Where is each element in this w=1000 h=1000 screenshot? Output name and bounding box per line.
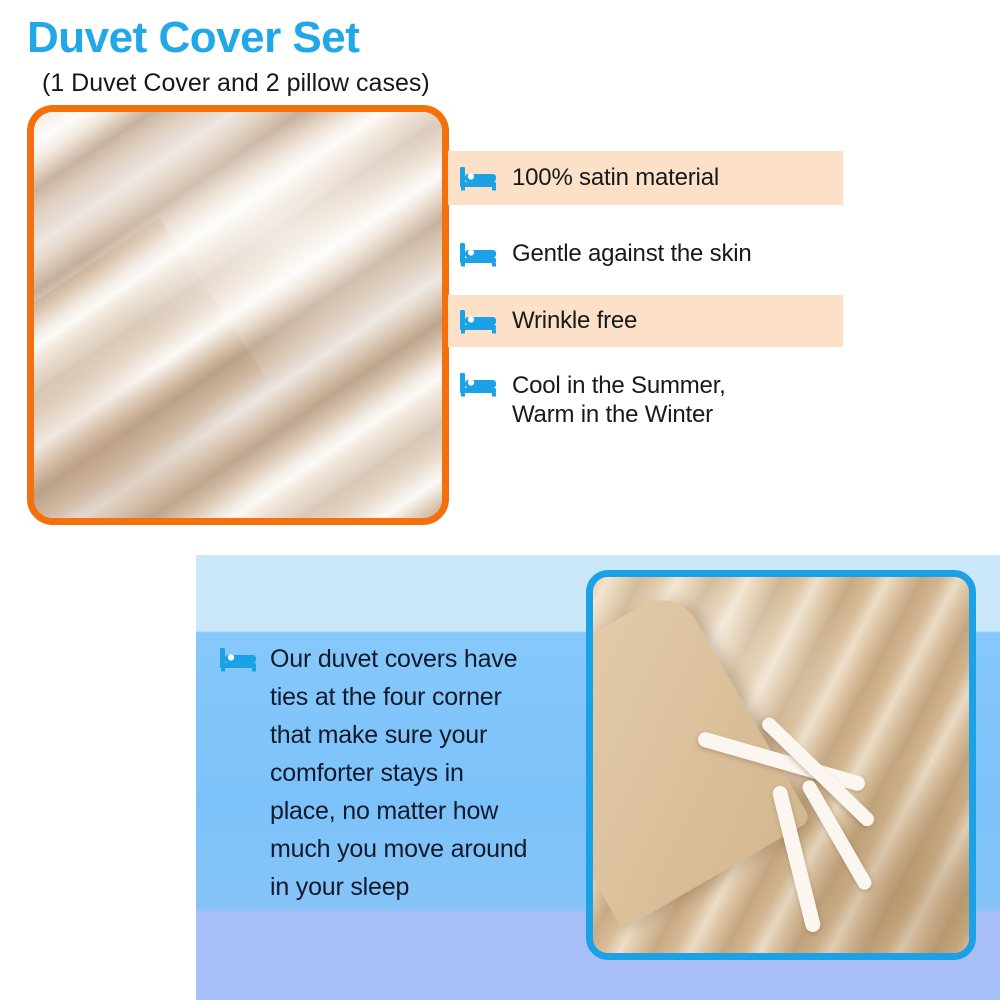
page-title: Duvet Cover Set: [27, 15, 359, 61]
bed-icon: [460, 371, 500, 397]
hero-fabric-photo: [27, 105, 449, 525]
feature-label: 100% satin material: [512, 163, 719, 192]
duvet-tie-photo: [586, 570, 976, 960]
page-subtitle: (1 Duvet Cover and 2 pillow cases): [42, 70, 430, 98]
feature-row: Wrinkle free: [448, 295, 843, 347]
feature-row: Cool in the Summer, Warm in the Winter: [448, 367, 843, 447]
product-infographic: Duvet Cover Set (1 Duvet Cover and 2 pil…: [0, 0, 1000, 1000]
feature-label: Gentle against the skin: [512, 239, 752, 268]
bottom-paragraph: Our duvet covers have ties at the four c…: [270, 640, 527, 906]
bed-icon: [460, 165, 500, 191]
bed-icon: [220, 646, 260, 672]
bed-icon: [460, 308, 500, 334]
feature-label: Cool in the Summer, Warm in the Winter: [512, 371, 726, 430]
feature-row: 100% satin material: [448, 151, 843, 205]
bottom-text-block: Our duvet covers have ties at the four c…: [220, 640, 590, 906]
feature-row: Gentle against the skin: [448, 232, 843, 276]
bed-icon: [460, 241, 500, 267]
feature-label: Wrinkle free: [512, 306, 637, 335]
satin-sheen-layer: [34, 112, 442, 518]
